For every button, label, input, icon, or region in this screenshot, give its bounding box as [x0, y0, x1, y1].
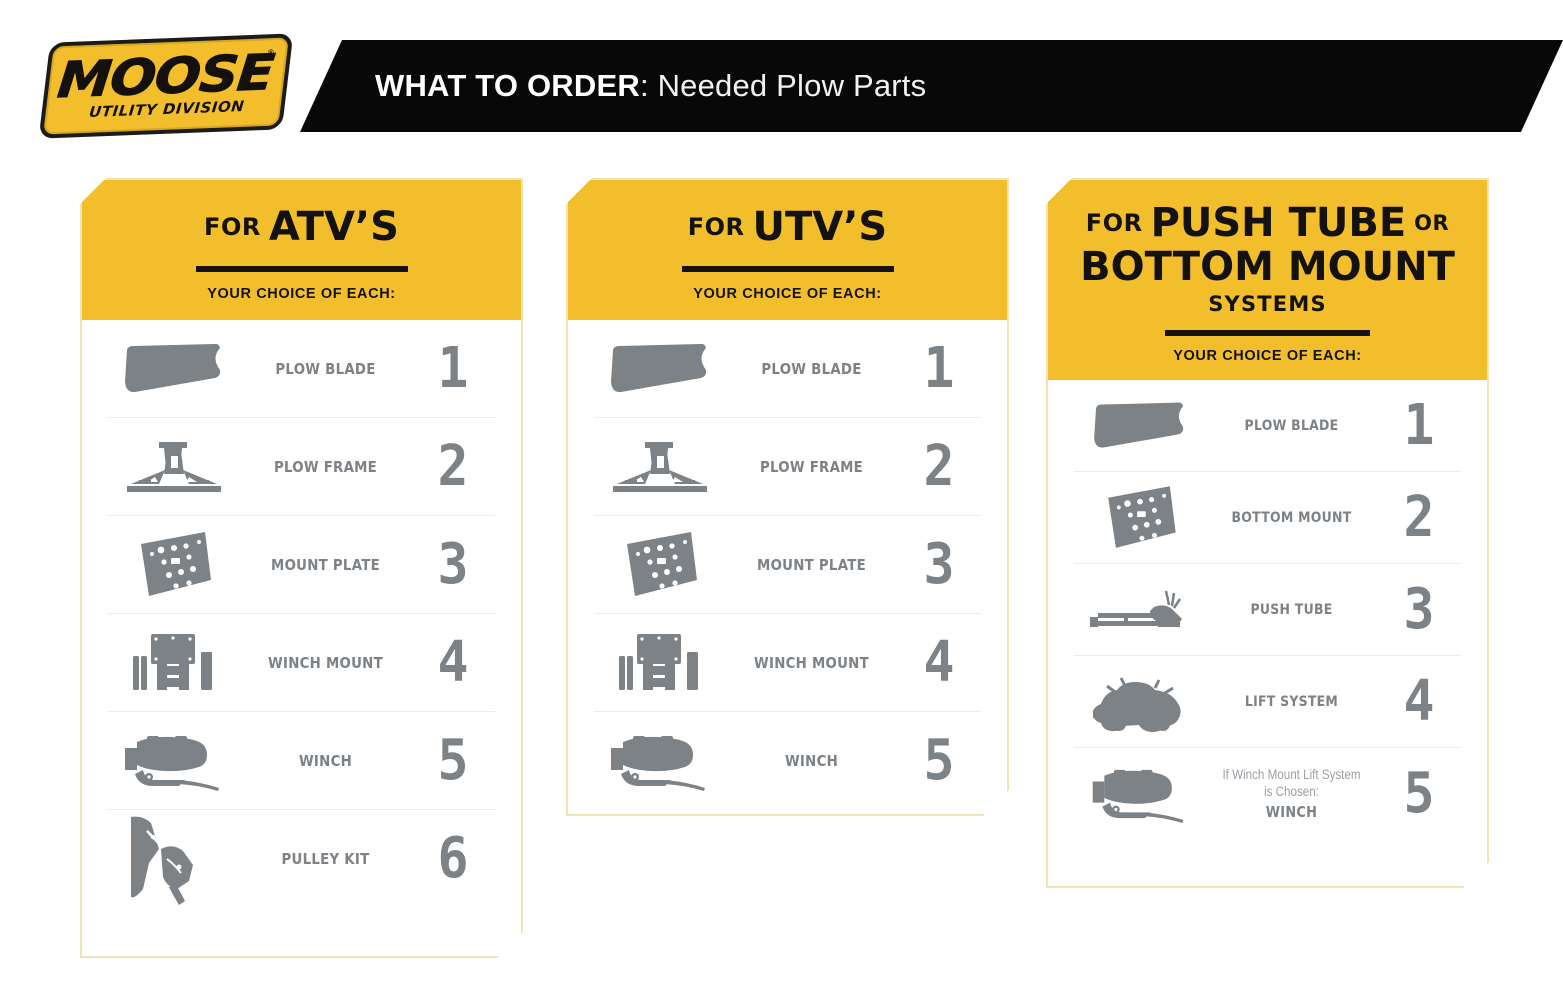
card-atv: FORATV’S YOUR CHOICE OF EACH: PLOW BLADE…	[80, 178, 523, 958]
title-banner: WHAT TO ORDER: Needed Plow Parts	[300, 40, 1563, 132]
page-title-strong: WHAT TO ORDER	[375, 68, 640, 103]
plow-blade-icon	[594, 338, 726, 400]
table-row: PUSH TUBE 3	[1074, 564, 1461, 656]
page-title-rest: : Needed Plow Parts	[640, 68, 926, 103]
table-row: If Winch Mount Lift System is Chosen: WI…	[1074, 748, 1461, 840]
row-number: 4	[900, 635, 977, 691]
plow-blade-icon	[108, 338, 240, 400]
card-atv-for-word: FOR	[204, 213, 261, 241]
card-utv-rule	[682, 266, 894, 272]
logo-main-text: MOOSE	[56, 50, 276, 104]
pulley-kit-icon	[108, 811, 240, 907]
winch-mount-icon	[594, 630, 726, 696]
row-label: WINCH	[738, 752, 885, 770]
row-number: 2	[414, 439, 491, 495]
registered-trademark-icon: ®	[268, 48, 274, 57]
table-row: WINCH 5	[594, 712, 981, 810]
row-label: PLOW BLADE	[252, 360, 399, 378]
logo-text-group: MOOSE UTILITY DIVISION	[43, 33, 289, 138]
row-note: If Winch Mount Lift System is Chosen:	[1218, 767, 1365, 801]
row-number: 4	[414, 635, 491, 691]
row-number: 3	[1380, 582, 1457, 638]
card-utv-for-word: FOR	[688, 213, 745, 241]
bottom-mount-icon	[1074, 484, 1206, 552]
infographic-page: MOOSE UTILITY DIVISION ® WHAT TO ORDER: …	[0, 0, 1563, 1000]
row-number: 1	[1380, 398, 1457, 454]
card-push-tube-for-word: FOR	[1086, 209, 1143, 237]
moose-logo: MOOSE UTILITY DIVISION ®	[45, 38, 287, 134]
row-number: 2	[1380, 490, 1457, 546]
card-atv-choice-label: YOUR CHOICE OF EACH:	[100, 286, 503, 302]
card-utv-big-word: UTV’S	[753, 204, 888, 250]
winch-icon	[1074, 764, 1206, 824]
card-utv-choice-label: YOUR CHOICE OF EACH:	[586, 286, 989, 302]
lift-system-icon	[1074, 668, 1206, 736]
row-label: WINCH MOUNT	[738, 654, 885, 672]
mount-plate-icon	[594, 530, 726, 600]
card-push-tube-title-line1: FORPUSH TUBEOR	[1066, 200, 1469, 246]
row-number: 5	[1380, 766, 1457, 822]
row-number: 6	[414, 831, 491, 887]
table-row: LIFT SYSTEM 4	[1074, 656, 1461, 748]
card-utv: FORUTV’S YOUR CHOICE OF EACH: PLOW BLADE…	[566, 178, 1009, 816]
table-row: WINCH MOUNT 4	[108, 614, 495, 712]
row-number: 3	[414, 537, 491, 593]
cards-container: FORATV’S YOUR CHOICE OF EACH: PLOW BLADE…	[0, 178, 1563, 978]
winch-icon	[108, 730, 240, 792]
row-label: PLOW FRAME	[738, 458, 885, 476]
card-atv-big-word: ATV’S	[269, 204, 399, 250]
plow-frame-icon	[108, 436, 240, 498]
row-number: 5	[900, 733, 977, 789]
card-atv-body: PLOW BLADE 1 PLOW FRAME 2 MOUNT PLATE 3	[82, 320, 521, 908]
row-label: BOTTOM MOUNT	[1218, 510, 1365, 526]
row-label: WINCH MOUNT	[252, 654, 399, 672]
push-tube-icon	[1074, 581, 1206, 639]
row-number: 4	[1380, 674, 1457, 730]
card-push-tube-body: PLOW BLADE 1 BOTTOM MOUNT 2 PUSH TUBE 3	[1048, 380, 1487, 840]
table-row: WINCH MOUNT 4	[594, 614, 981, 712]
winch-mount-icon	[108, 630, 240, 696]
card-atv-title: FORATV’S	[100, 204, 503, 250]
row-label: PUSH TUBE	[1218, 602, 1365, 618]
mount-plate-icon	[108, 530, 240, 600]
card-push-tube-choice-label: YOUR CHOICE OF EACH:	[1066, 348, 1469, 364]
table-row: WINCH 5	[108, 712, 495, 810]
row-label: LIFT SYSTEM	[1218, 694, 1365, 710]
card-push-tube-or-word: OR	[1414, 211, 1449, 235]
card-push-tube: FORPUSH TUBEOR BOTTOM MOUNT SYSTEMS YOUR…	[1046, 178, 1489, 888]
card-push-tube-title-line3: SYSTEMS	[1066, 292, 1469, 316]
page-title: WHAT TO ORDER: Needed Plow Parts	[375, 68, 926, 104]
card-atv-header: FORATV’S YOUR CHOICE OF EACH:	[82, 180, 521, 320]
winch-icon	[594, 730, 726, 792]
card-push-tube-header: FORPUSH TUBEOR BOTTOM MOUNT SYSTEMS YOUR…	[1048, 180, 1487, 380]
row-number: 1	[414, 341, 491, 397]
plow-blade-icon	[1074, 397, 1206, 455]
row-number: 5	[414, 733, 491, 789]
table-row: PLOW FRAME 2	[594, 418, 981, 516]
page-header: MOOSE UTILITY DIVISION ® WHAT TO ORDER: …	[0, 0, 1563, 150]
card-utv-header: FORUTV’S YOUR CHOICE OF EACH:	[568, 180, 1007, 320]
row-label: MOUNT PLATE	[252, 556, 399, 574]
table-row: PLOW BLADE 1	[594, 320, 981, 418]
row-label: MOUNT PLATE	[738, 556, 885, 574]
row-label: PULLEY KIT	[252, 850, 399, 868]
card-push-tube-title-line2: BOTTOM MOUNT	[1066, 244, 1469, 290]
card-utv-body: PLOW BLADE 1 PLOW FRAME 2 MOUNT PLATE 3	[568, 320, 1007, 810]
row-label: PLOW FRAME	[252, 458, 399, 476]
row-label: PLOW BLADE	[738, 360, 885, 378]
row-number: 2	[900, 439, 977, 495]
card-push-tube-big-word: PUSH TUBE	[1151, 200, 1407, 246]
card-utv-title: FORUTV’S	[586, 204, 989, 250]
row-label: WINCH	[252, 752, 399, 770]
table-row: MOUNT PLATE 3	[594, 516, 981, 614]
row-number: 3	[900, 537, 977, 593]
row-number: 1	[900, 341, 977, 397]
row-label: PLOW BLADE	[1218, 418, 1365, 434]
table-row: BOTTOM MOUNT 2	[1074, 472, 1461, 564]
card-atv-rule	[196, 266, 408, 272]
table-row: MOUNT PLATE 3	[108, 516, 495, 614]
table-row: PLOW BLADE 1	[108, 320, 495, 418]
card-push-tube-rule	[1165, 330, 1370, 336]
row-label: If Winch Mount Lift System is Chosen: WI…	[1218, 767, 1365, 821]
row-note-main: WINCH	[1218, 803, 1365, 821]
table-row: PLOW BLADE 1	[1074, 380, 1461, 472]
table-row: PLOW FRAME 2	[108, 418, 495, 516]
table-row: PULLEY KIT 6	[108, 810, 495, 908]
plow-frame-icon	[594, 436, 726, 498]
